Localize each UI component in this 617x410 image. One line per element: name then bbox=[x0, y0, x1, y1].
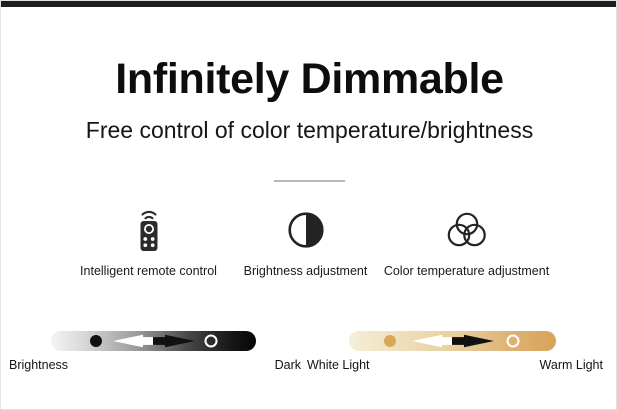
top-edge-bar bbox=[1, 1, 617, 7]
remote-control-icon bbox=[132, 204, 166, 256]
feature-list: Intelligent remote control Brightness ad… bbox=[1, 204, 617, 278]
color-temperature-slider[interactable]: White Light Warm Light bbox=[307, 331, 603, 372]
page-subtitle: Free control of color temperature/bright… bbox=[1, 118, 617, 143]
feature-label: Brightness adjustment bbox=[244, 264, 368, 278]
title-divider bbox=[274, 180, 345, 182]
feature-color-temperature: Color temperature adjustment bbox=[377, 204, 557, 278]
promo-graphic: Infinitely Dimmable Free control of colo… bbox=[0, 0, 617, 410]
feature-label: Color temperature adjustment bbox=[384, 264, 549, 278]
color-temperature-slider-knob-warm[interactable] bbox=[506, 335, 519, 348]
brightness-half-circle-icon bbox=[286, 204, 326, 256]
brightness-slider-track[interactable] bbox=[51, 331, 256, 351]
feature-brightness: Brightness adjustment bbox=[235, 204, 377, 278]
color-temperature-circles-icon bbox=[442, 204, 492, 256]
color-temperature-slider-knob-white[interactable] bbox=[384, 335, 396, 347]
brightness-slider-labels: Brightness Dark bbox=[9, 358, 301, 372]
brightness-slider-knob-light[interactable] bbox=[90, 335, 102, 347]
feature-label: Intelligent remote control bbox=[80, 264, 217, 278]
color-temperature-slider-track[interactable] bbox=[349, 331, 556, 351]
brightness-slider[interactable]: Brightness Dark bbox=[9, 331, 301, 372]
brightness-slider-knob-dark[interactable] bbox=[204, 335, 217, 348]
brightness-double-arrow-icon bbox=[111, 334, 197, 349]
brightness-slider-right-label: Dark bbox=[275, 358, 301, 372]
color-temperature-double-arrow-icon bbox=[410, 334, 496, 349]
color-temperature-slider-labels: White Light Warm Light bbox=[307, 358, 603, 372]
color-temperature-slider-left-label: White Light bbox=[307, 358, 370, 372]
color-temperature-slider-right-label: Warm Light bbox=[540, 358, 603, 372]
page-title: Infinitely Dimmable bbox=[1, 57, 617, 102]
brightness-slider-left-label: Brightness bbox=[9, 358, 68, 372]
feature-remote-control: Intelligent remote control bbox=[63, 204, 235, 278]
